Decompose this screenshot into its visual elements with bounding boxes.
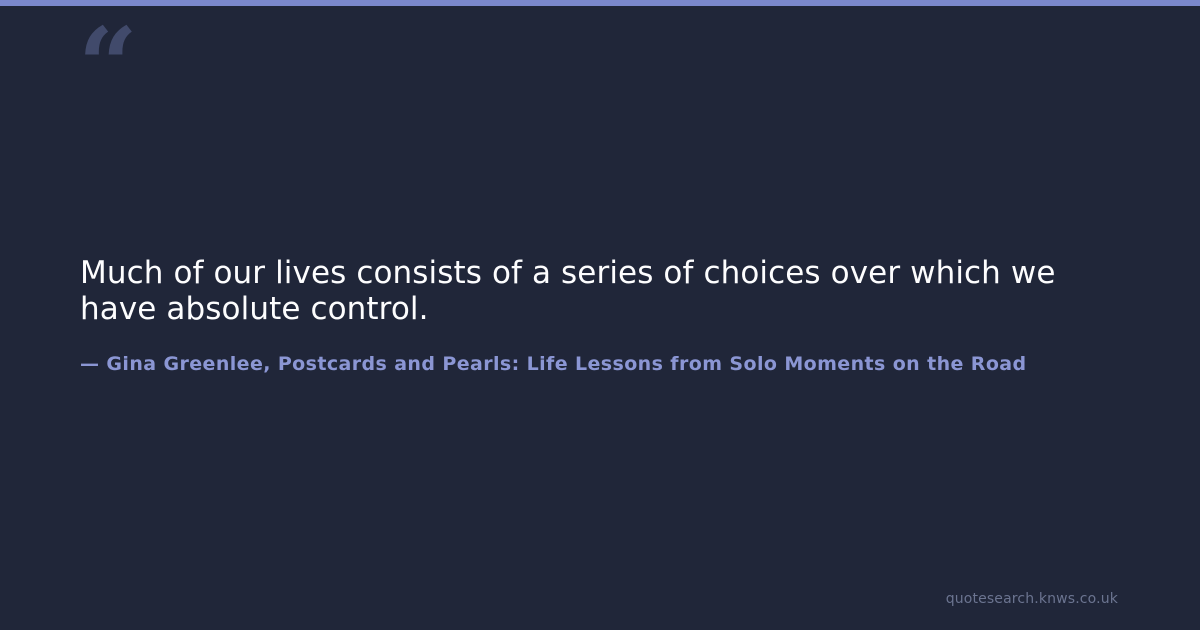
attribution-author-and-source: Gina Greenlee, Postcards and Pearls: Lif… <box>106 353 1026 375</box>
quote-card: “ Much of our lives consists of a series… <box>0 0 1200 630</box>
attribution-dash: — <box>80 353 99 375</box>
quote-text: Much of our lives consists of a series o… <box>80 255 1090 327</box>
quote-content: Much of our lives consists of a series o… <box>80 0 1200 630</box>
quote-attribution: —Gina Greenlee, Postcards and Pearls: Li… <box>80 352 1200 376</box>
source-url-label: quotesearch.knws.co.uk <box>946 590 1118 608</box>
